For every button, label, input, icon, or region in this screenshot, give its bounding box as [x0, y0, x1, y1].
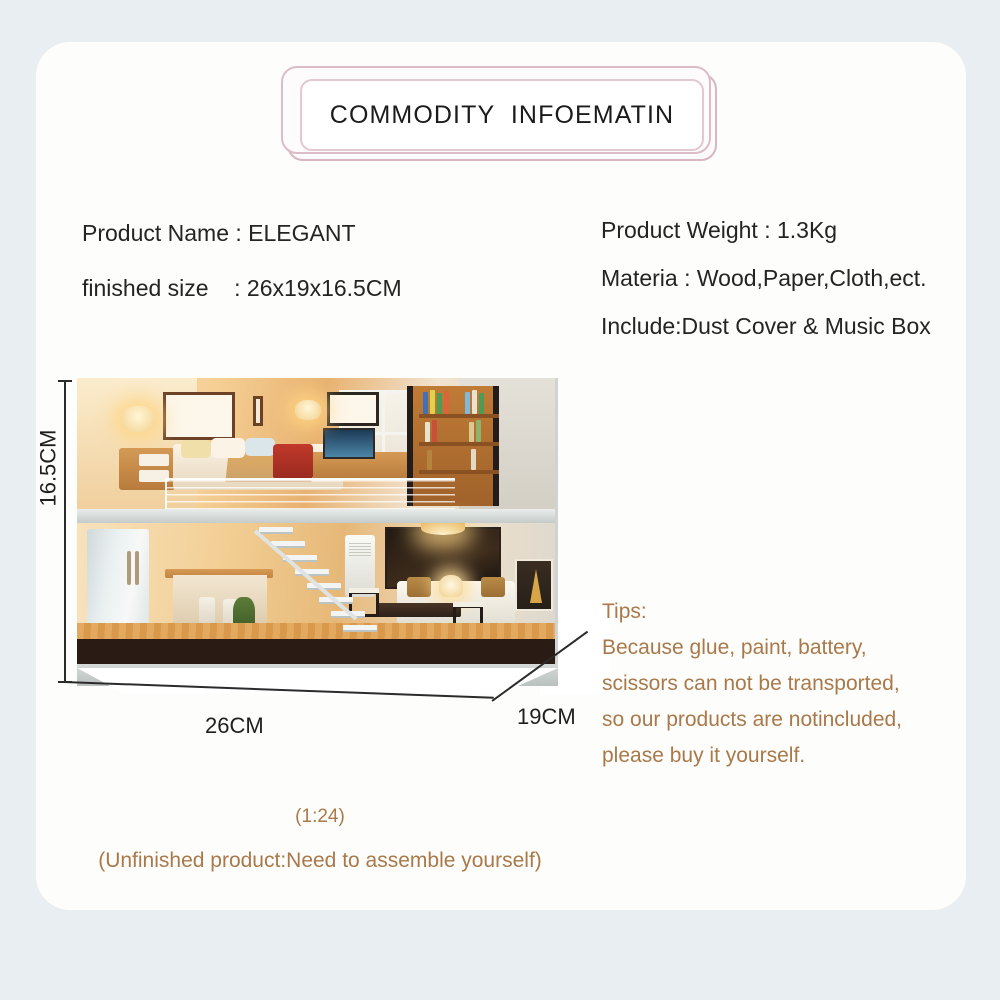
spec-column-left: Product Name : ELEGANT finished size : 2…	[82, 206, 552, 316]
scale-note: (1:24)	[0, 806, 640, 828]
tips-line-2: scissors can not be transported,	[602, 666, 972, 702]
tips-line-4: please buy it yourself.	[602, 738, 972, 774]
book	[472, 390, 477, 414]
deer-artwork	[163, 392, 235, 440]
sofa-cushion	[481, 577, 505, 597]
book	[444, 391, 449, 414]
pillow-accent	[181, 440, 211, 458]
spec-product-name: Product Name : ELEGANT	[82, 206, 552, 261]
book	[432, 420, 437, 442]
spec-finished-size: finished size : 26x19x16.5CM	[82, 261, 552, 316]
banner-border-middle: COMMODITY INFOEMATIN	[281, 66, 711, 154]
height-dimension-cap-top	[58, 380, 72, 382]
spec-include: Include:Dust Cover & Music Box	[601, 302, 981, 350]
height-label: 16.5CM	[36, 429, 62, 506]
ceiling-lamp	[421, 523, 465, 535]
book	[427, 450, 432, 470]
wall-sconce	[295, 400, 321, 420]
pillow-blue	[245, 438, 275, 456]
book	[471, 449, 476, 470]
coffee-table	[377, 603, 461, 617]
eiffel-tower-poster	[515, 559, 553, 611]
laptop-screen	[323, 428, 375, 459]
loft-floor	[77, 378, 555, 511]
bookshelf-shelf	[419, 470, 499, 474]
book	[430, 390, 435, 414]
banner-border-inner: COMMODITY INFOEMATIN	[300, 79, 704, 151]
assemble-note: (Unfinished product:Need to assemble you…	[0, 849, 640, 873]
tips-block: Tips: Because glue, paint, battery, scis…	[602, 594, 972, 774]
pillow-main	[211, 438, 245, 458]
study-artwork	[327, 392, 379, 426]
tips-line-1: Because glue, paint, battery,	[602, 630, 972, 666]
title-banner: COMMODITY INFOEMATIN	[277, 61, 725, 166]
loft-floor-slab	[77, 509, 555, 523]
loft-railing	[165, 478, 455, 509]
refrigerator	[87, 529, 149, 627]
stair-step	[343, 625, 377, 632]
bedside-lamp	[121, 406, 155, 432]
sofa-cushion	[407, 577, 431, 597]
stair-step	[259, 527, 293, 534]
fridge-handle-right	[135, 551, 139, 585]
ground-floor	[77, 523, 555, 639]
small-artwork	[253, 396, 263, 426]
book	[465, 392, 470, 414]
book	[437, 393, 442, 414]
spec-material: Materia : Wood,Paper,Cloth,ect.	[601, 254, 981, 302]
book	[469, 422, 474, 442]
page-title: COMMODITY INFOEMATIN	[330, 101, 674, 130]
nightstand-drawer-top	[139, 454, 169, 466]
bookshelf-shelf	[419, 414, 499, 418]
eiffel-tower-shape	[530, 569, 542, 603]
red-armchair	[273, 444, 313, 478]
spec-product-weight: Product Weight : 1.3Kg	[601, 206, 981, 254]
table-lamp	[439, 575, 463, 597]
product-photo	[77, 378, 558, 668]
tips-line-3: so our products are notincluded,	[602, 702, 972, 738]
fridge-handle-left	[127, 551, 131, 585]
spec-column-right: Product Weight : 1.3Kg Materia : Wood,Pa…	[601, 206, 981, 350]
page-root: COMMODITY INFOEMATIN Product Name : ELEG…	[0, 0, 1000, 1000]
book	[423, 392, 428, 414]
book	[479, 393, 484, 414]
width-label: 26CM	[205, 713, 264, 739]
book	[476, 420, 481, 442]
height-dimension-line	[64, 380, 66, 682]
tips-heading: Tips:	[602, 594, 972, 630]
depth-label: 19CM	[517, 704, 576, 730]
book	[425, 422, 430, 442]
bookshelf-shelf	[419, 442, 499, 446]
